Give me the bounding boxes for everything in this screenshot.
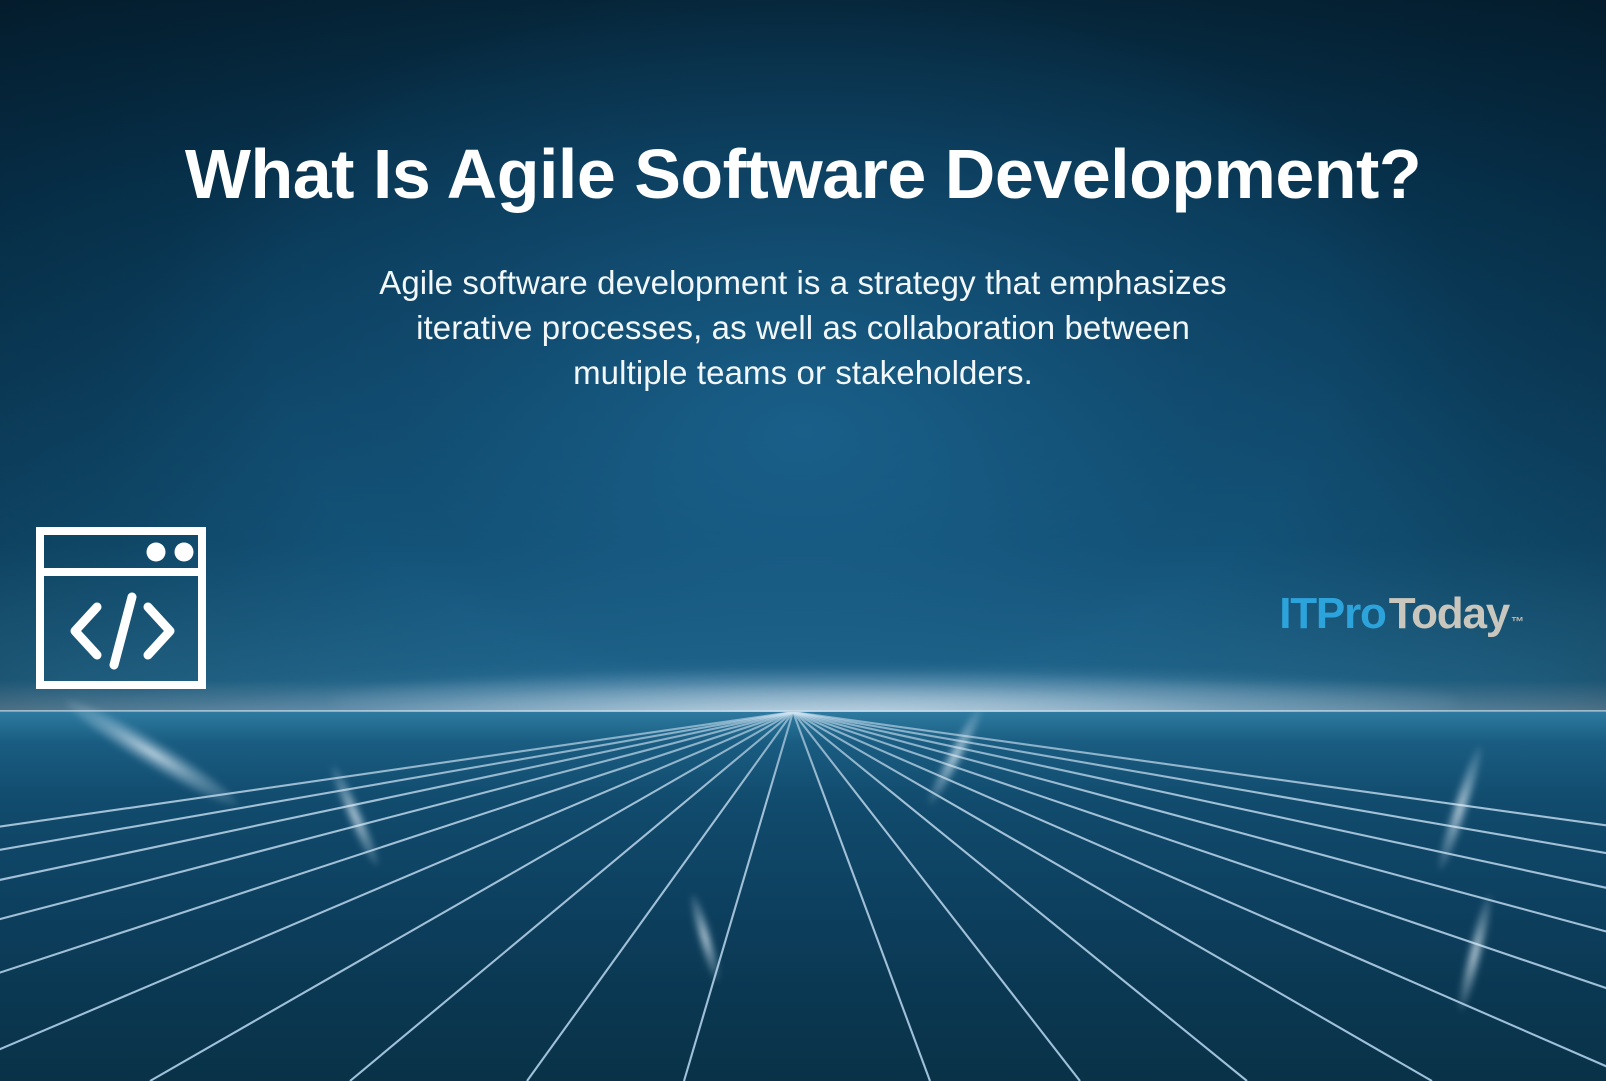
perspective-grid-floor: [0, 712, 1606, 1081]
brand-logo-secondary: Today: [1389, 589, 1509, 638]
subtitle-line: Agile software development is a strategy…: [303, 260, 1303, 305]
page-title: What Is Agile Software Development?: [0, 138, 1606, 212]
code-window-icon: [36, 527, 206, 689]
subtitle: Agile software development is a strategy…: [303, 260, 1303, 395]
brand-logo-primary: ITPro: [1279, 589, 1385, 638]
window-dot-icon: [175, 543, 194, 562]
subtitle-line: iterative processes, as well as collabor…: [303, 305, 1303, 350]
subtitle-line: multiple teams or stakeholders.: [303, 350, 1303, 395]
brand-logo[interactable]: ITProToday™: [1279, 592, 1524, 636]
code-chevron-icon: [75, 597, 170, 665]
trademark-symbol: ™: [1511, 614, 1524, 629]
grid-lines: [0, 712, 1606, 1081]
hero-graphic: What Is Agile Software Development? Agil…: [0, 0, 1606, 1081]
window-dot-icon: [147, 543, 166, 562]
